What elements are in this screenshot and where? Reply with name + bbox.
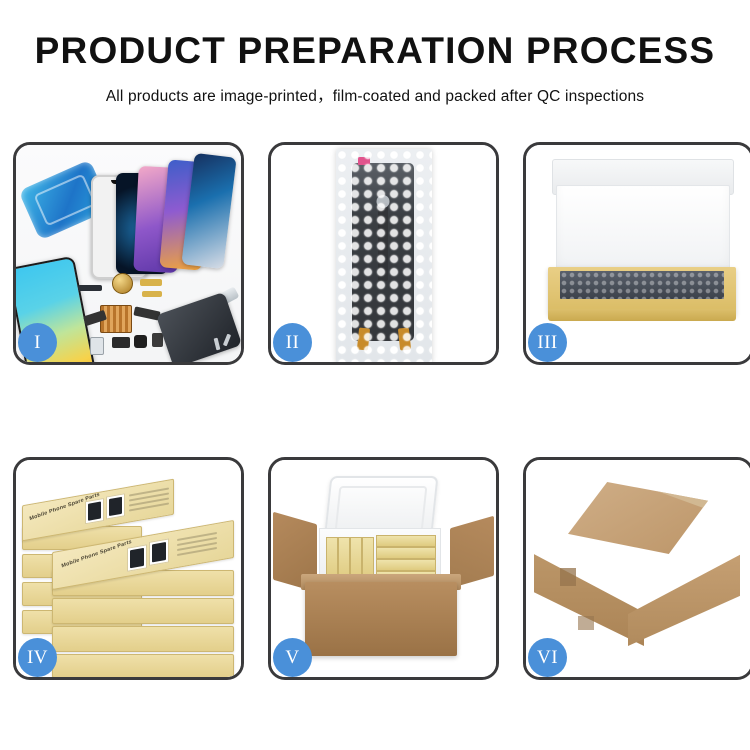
step-badge-1: I (18, 323, 57, 362)
stacked-box (52, 626, 234, 652)
kraft-tray-front-lip (548, 309, 736, 321)
step-badge-3: III (528, 323, 567, 362)
box-stack: Mobile Phone Spare Parts Mobile Phone Sp… (22, 478, 238, 668)
vibration-motor-part (112, 273, 133, 294)
sealed-carton (534, 482, 740, 648)
process-step-grid: I II (13, 142, 737, 680)
kraft-tray-body (548, 267, 736, 315)
packing-tape (614, 467, 734, 518)
page-subtitle: All products are image-printed，film-coat… (0, 84, 750, 106)
box-lcd-photo (106, 493, 125, 519)
yellow-box-in-carton (376, 547, 436, 559)
bubble-wrap-bag (336, 149, 432, 362)
box-lcd-photo (127, 544, 147, 572)
speaker-part (134, 335, 147, 348)
flex-cable-part (142, 291, 162, 297)
process-step-panel-4: Mobile Phone Spare Parts Mobile Phone Sp… (13, 457, 244, 680)
product-preparation-page: PRODUCT PREPARATION PROCESS All products… (0, 0, 750, 750)
battery-part (90, 337, 104, 355)
connector-part (152, 333, 163, 347)
step-badge-2: II (273, 323, 312, 362)
camera-module-part (112, 337, 130, 348)
wrapped-parts-inside-tray (560, 271, 724, 299)
process-step-panel-6: VI (523, 457, 750, 680)
bubble-texture-overlay (336, 149, 432, 362)
white-foam-sheet (556, 185, 730, 273)
flex-cable-part (78, 285, 102, 291)
process-step-panel-1: I (13, 142, 244, 365)
step-badge-5: V (273, 638, 312, 677)
yellow-box-in-carton (376, 559, 436, 571)
carton-tab-lower (578, 616, 594, 630)
process-step-panel-3: III (523, 142, 750, 365)
page-title: PRODUCT PREPARATION PROCESS (0, 32, 750, 71)
yellow-box-in-carton (376, 535, 436, 547)
step-badge-6: VI (528, 638, 567, 677)
flex-cable-part (140, 279, 162, 286)
box-lcd-photo (149, 538, 169, 566)
carton-face-top (568, 482, 708, 554)
stacked-box (52, 598, 234, 624)
process-step-panel-2: II (268, 142, 499, 365)
carton-tab-upper (560, 568, 576, 586)
carton-body (305, 582, 457, 656)
page-header: PRODUCT PREPARATION PROCESS All products… (0, 0, 750, 106)
process-step-panel-5: V (268, 457, 499, 680)
step-badge-4: IV (18, 638, 57, 677)
stacked-box (52, 654, 234, 677)
box-lcd-photo (85, 498, 104, 524)
